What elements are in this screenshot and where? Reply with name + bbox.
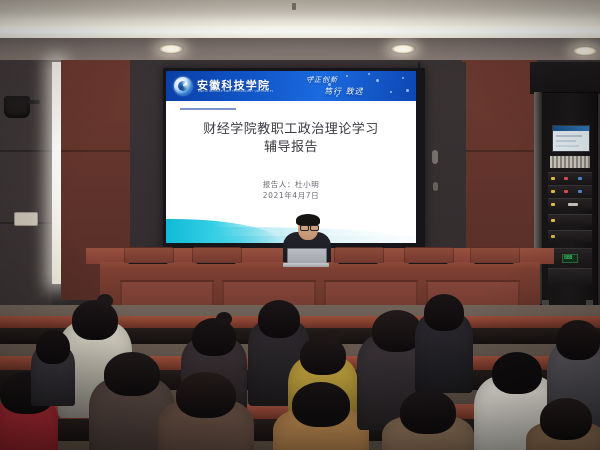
audience-head [36, 330, 70, 364]
desk-chair[interactable] [124, 247, 174, 263]
wall-light-strip [52, 62, 61, 284]
wall-seam [0, 150, 52, 152]
audience-head [104, 352, 160, 396]
rack-monitor-line [556, 135, 582, 137]
wall-fixture-icon [432, 150, 438, 164]
desk-chair[interactable] [404, 247, 454, 263]
slide-divider [180, 108, 236, 110]
audience-head [492, 352, 542, 394]
wall-seam [462, 150, 537, 152]
slide-wave-graphic [166, 219, 280, 243]
downlight-icon [390, 44, 416, 54]
rack-monitor-line [556, 140, 576, 142]
rack-readout-value: 888 [564, 255, 572, 262]
calligraphy-line-2: 笃行 致远 [324, 86, 386, 97]
rack-unit[interactable] [548, 214, 592, 226]
desk-chair[interactable] [470, 247, 520, 263]
wall-fixture-icon [433, 182, 438, 191]
ceiling-soffit [0, 38, 600, 62]
rack-display-readout: 888 [562, 254, 578, 263]
audience-head [540, 398, 592, 440]
audience-head [258, 300, 300, 338]
ceiling-sensor-icon [292, 3, 296, 10]
downlight-icon [158, 44, 184, 54]
presenter-name: 报告人：杜小明 [176, 179, 406, 190]
presenter-glasses-icon [300, 225, 309, 231]
slide-title: 财经学院教职工政治理论学习 辅导报告 [176, 121, 406, 157]
rack-monitor-line [556, 145, 579, 147]
university-name-en: ANHUI SCIENCE AND TECHNOLOGY UNIVERSITY [198, 90, 273, 93]
slide-banner: 安徽科技学院 ANHUI SCIENCE AND TECHNOLOGY UNIV… [166, 71, 416, 101]
downlight-icon [572, 46, 598, 56]
rack-monitor-titlebar [553, 126, 589, 131]
university-logo-icon [174, 77, 192, 95]
rack-unit[interactable] [548, 185, 592, 197]
audience-head [176, 372, 236, 418]
rack-monitor[interactable] [552, 125, 590, 152]
rack-top-enclosure [530, 62, 600, 94]
slide-meta: 报告人：杜小明 2021年4月7日 [176, 179, 406, 201]
presenter-laptop-base[interactable] [283, 263, 329, 267]
audience-hair-bun [325, 330, 341, 344]
wall-seam [61, 150, 130, 152]
wall-speaker-icon [4, 96, 30, 118]
desk-chair[interactable] [334, 247, 384, 263]
rack-unit[interactable] [548, 268, 592, 285]
lecture-hall-photo: 安徽科技学院 ANHUI SCIENCE AND TECHNOLOGY UNIV… [0, 0, 600, 450]
calligraphy-motto: 守正创新 笃行 致远 [306, 75, 386, 99]
audience-head [300, 336, 346, 375]
projection-screen: 安徽科技学院 ANHUI SCIENCE AND TECHNOLOGY UNIV… [163, 68, 425, 252]
rack-unit[interactable] [548, 230, 592, 242]
desk-chair[interactable] [192, 247, 242, 263]
audience-hair-bun [216, 312, 232, 326]
audience-head [424, 294, 464, 331]
slide-title-line-1: 财经学院教职工政治理论学习 [176, 121, 406, 139]
audience-head [292, 382, 350, 427]
calligraphy-line-1: 守正创新 [306, 75, 386, 86]
rack-unit[interactable] [548, 198, 592, 210]
wall-control-plate[interactable] [14, 212, 38, 226]
audience-hair-bun [97, 294, 113, 308]
speaker-mount [28, 100, 40, 104]
audience-head [400, 390, 456, 434]
slide-title-line-2: 辅导报告 [176, 139, 406, 157]
ceiling-light-strip [0, 26, 600, 38]
slide-surface: 安徽科技学院 ANHUI SCIENCE AND TECHNOLOGY UNIV… [166, 71, 416, 243]
logo-inner-mark [178, 81, 188, 91]
presenter-glasses-icon [310, 225, 319, 231]
rack-patch-panel [550, 156, 590, 168]
audience-head [72, 300, 118, 340]
presentation-date: 2021年4月7日 [176, 190, 406, 201]
rack-unit[interactable] [548, 172, 592, 184]
audience-head [556, 320, 600, 360]
